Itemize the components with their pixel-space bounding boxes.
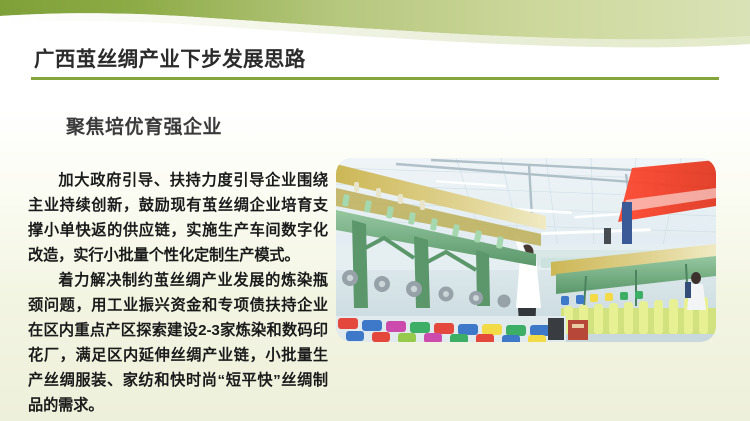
title-underline-rule — [31, 77, 719, 80]
body-paragraph-2: 着力解决制约茧丝绸产业发展的炼染瓶颈问题，用工业振兴资金和专项债扶持企业在区内重… — [28, 268, 328, 418]
page-title: 广西茧丝绸产业下步发展思路 — [34, 42, 306, 72]
presentation-slide: 广西茧丝绸产业下步发展思路 聚焦培优育强企业 加大政府引导、扶持力度引导企业围绕… — [0, 0, 750, 421]
body-paragraph-1: 加大政府引导、扶持力度引导企业围绕主业持续创新，鼓励现有茧丝绸企业培育支撑小单快… — [28, 168, 328, 268]
body-text-block: 加大政府引导、扶持力度引导企业围绕主业持续创新，鼓励现有茧丝绸企业培育支撑小单快… — [28, 168, 328, 418]
section-heading: 聚焦培优育强企业 — [66, 112, 222, 139]
silk-reeling-factory-photo — [336, 158, 716, 342]
